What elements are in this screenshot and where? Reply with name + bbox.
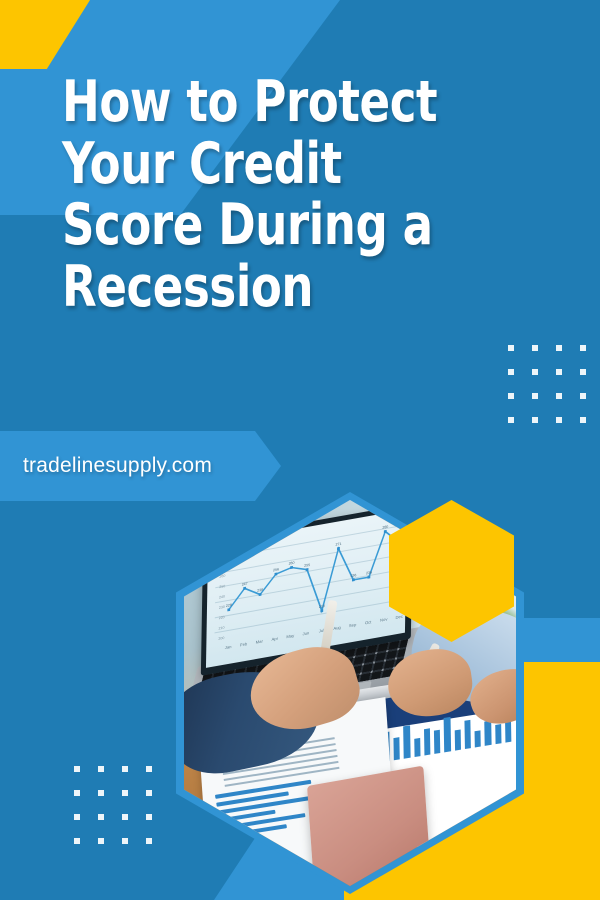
dot <box>146 814 152 820</box>
svg-text:Jan: Jan <box>225 644 232 650</box>
svg-text:280: 280 <box>382 525 388 530</box>
svg-text:Feb: Feb <box>240 641 248 647</box>
dot <box>98 790 104 796</box>
svg-text:Dec: Dec <box>396 614 403 620</box>
dot <box>74 814 80 820</box>
dot <box>508 393 514 399</box>
page-title: How to Protect Your Credit Score During … <box>62 72 476 318</box>
svg-text:Sep: Sep <box>349 622 357 628</box>
dot-grid-left <box>74 766 152 844</box>
dot <box>556 345 562 351</box>
pinterest-pin-graphic: How to Protect Your Credit Score During … <box>0 0 600 900</box>
svg-text:280: 280 <box>220 553 226 558</box>
svg-text:Apr: Apr <box>272 636 279 642</box>
dot <box>508 369 514 375</box>
laptop-line-chart: JanFebMarAprMayJunJulAugSepOctNovDec 200… <box>206 509 407 668</box>
dot <box>122 790 128 796</box>
dot-grid-right <box>508 345 586 423</box>
svg-text:230: 230 <box>219 605 225 610</box>
svg-text:260: 260 <box>289 561 295 566</box>
dot <box>146 790 152 796</box>
laptop-screen: JanFebMarAprMayJunJulAugSepOctNovDec 200… <box>206 509 407 668</box>
dot <box>74 790 80 796</box>
dot <box>98 766 104 772</box>
svg-text:256: 256 <box>273 567 279 572</box>
svg-text:247: 247 <box>242 582 248 587</box>
dot <box>122 766 128 772</box>
dot <box>532 369 538 375</box>
svg-text:236: 236 <box>366 570 372 575</box>
dot <box>532 345 538 351</box>
dot <box>98 814 104 820</box>
dot <box>146 838 152 844</box>
dot <box>556 369 562 375</box>
dot <box>508 417 514 423</box>
svg-text:Nov: Nov <box>380 616 388 622</box>
dot <box>580 369 586 375</box>
dot <box>556 393 562 399</box>
dot <box>580 345 586 351</box>
website-url-ribbon[interactable]: tradelinesupply.com <box>0 431 281 501</box>
dot <box>532 393 538 399</box>
svg-text:255: 255 <box>304 563 310 568</box>
headline-line-4: Recession <box>62 257 476 319</box>
svg-text:236: 236 <box>350 573 356 578</box>
svg-text:Oct: Oct <box>365 619 372 625</box>
svg-text:Jun: Jun <box>303 630 310 636</box>
svg-text:271: 271 <box>336 542 342 547</box>
dot <box>74 766 80 772</box>
svg-text:May: May <box>286 633 295 639</box>
dot <box>122 838 128 844</box>
dot <box>508 345 514 351</box>
headline-line-1: How to Protect <box>62 72 476 134</box>
dot <box>98 838 104 844</box>
dot <box>580 417 586 423</box>
svg-text:240: 240 <box>219 594 225 599</box>
headline-line-3: Score During a <box>62 195 476 257</box>
svg-text:200: 200 <box>218 636 224 641</box>
svg-text:Mar: Mar <box>256 638 264 644</box>
dot <box>122 814 128 820</box>
svg-text:220: 220 <box>219 615 225 620</box>
svg-text:250: 250 <box>219 584 225 589</box>
dot <box>580 393 586 399</box>
headline-line-2: Your Credit <box>62 134 476 196</box>
svg-text:210: 210 <box>319 604 325 609</box>
dot <box>146 766 152 772</box>
dot <box>74 838 80 844</box>
website-url-label: tradelinesupply.com <box>23 454 212 478</box>
svg-text:210: 210 <box>219 626 225 631</box>
dot <box>532 417 538 423</box>
svg-text:Aug: Aug <box>333 625 341 631</box>
dot <box>556 417 562 423</box>
